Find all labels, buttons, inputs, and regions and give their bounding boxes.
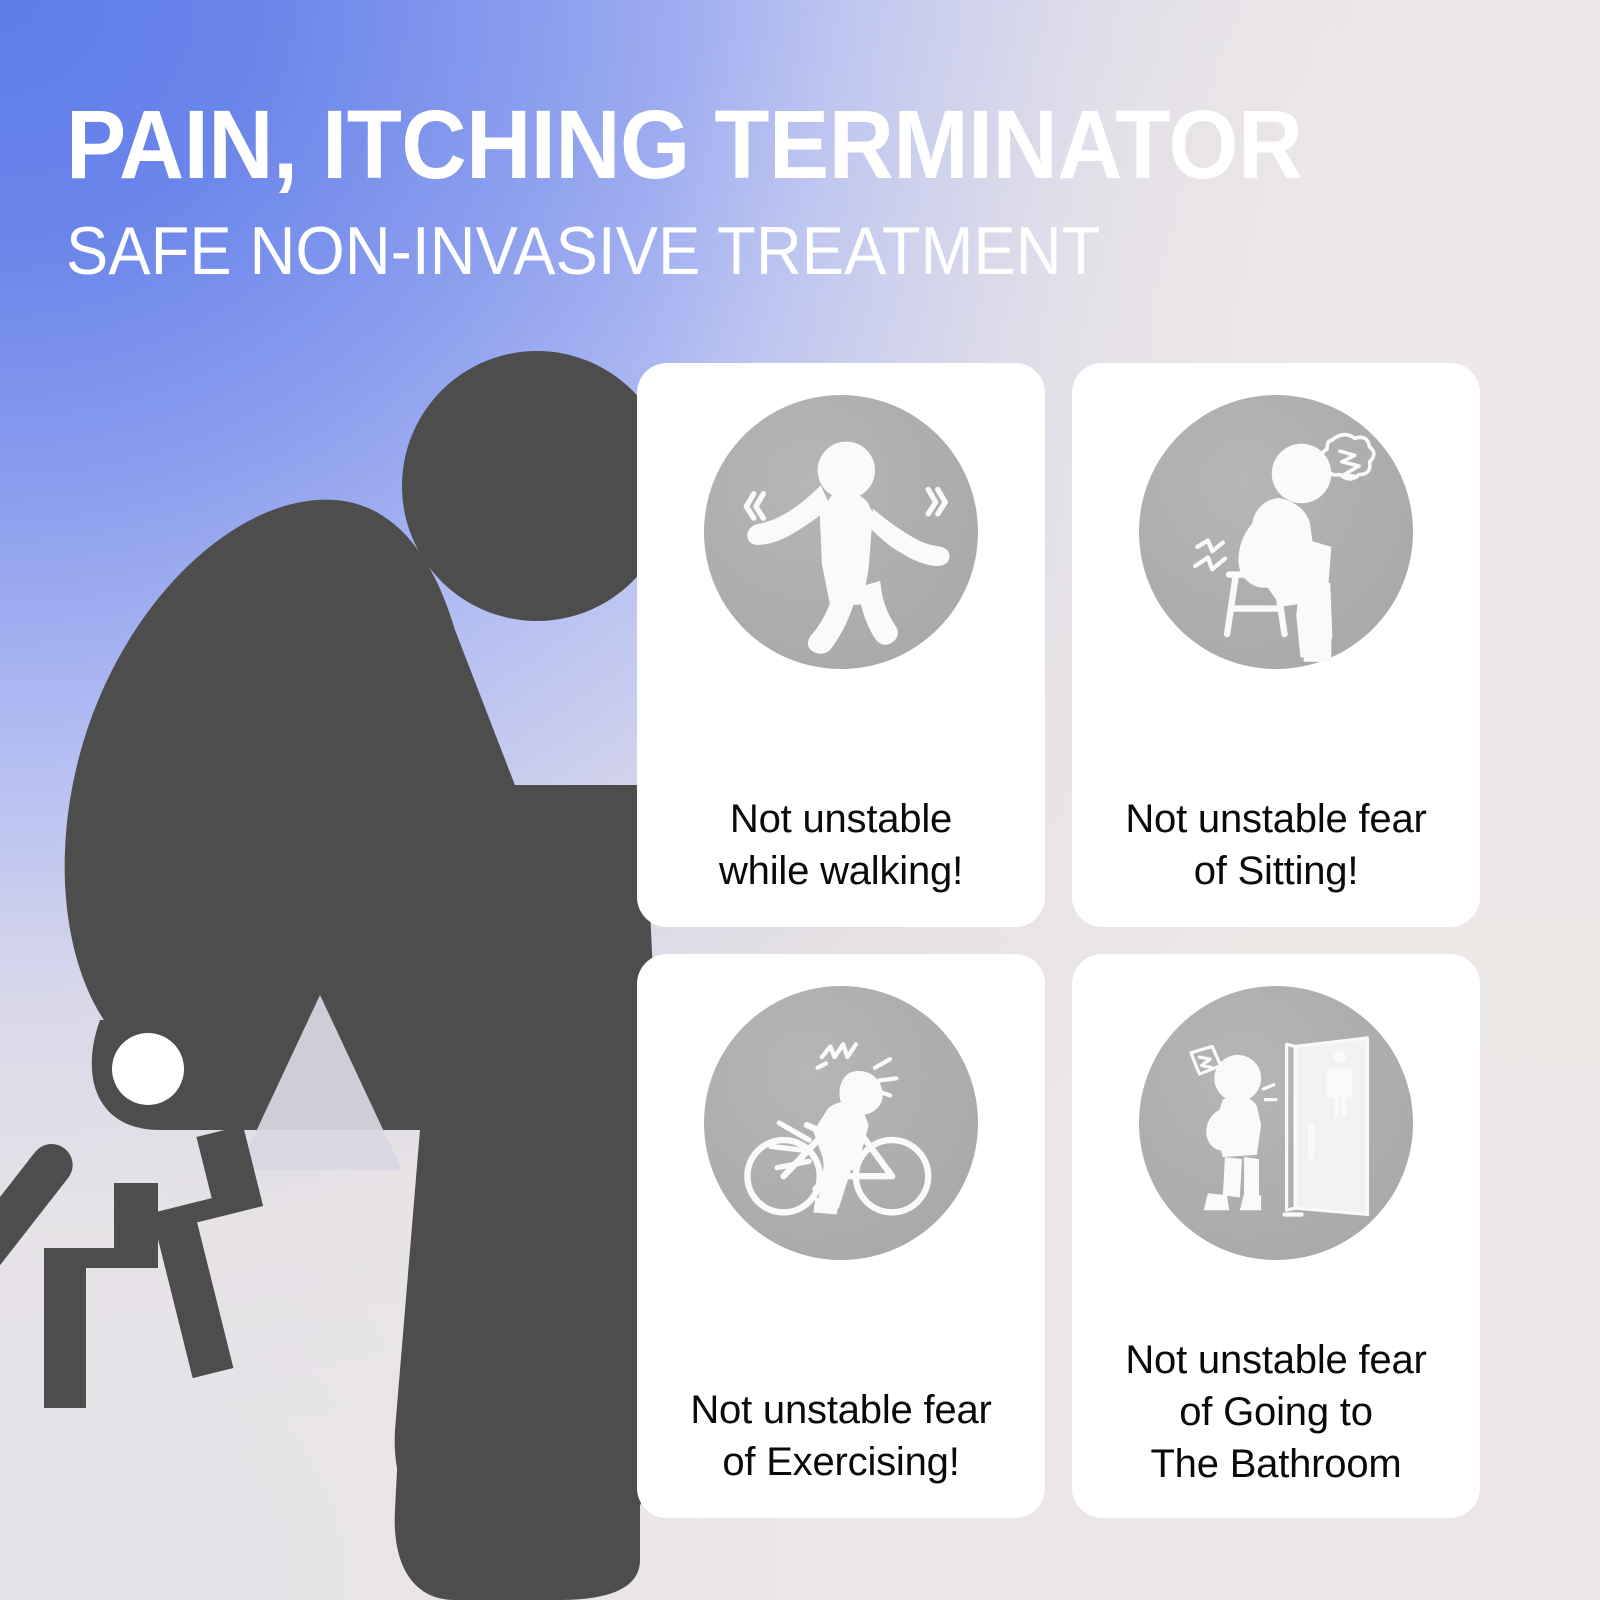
feature-card-caption: Not unstable fear of Sitting! [1125, 793, 1426, 897]
page-title: PAIN, ITCHING TERMINATOR [66, 96, 1303, 193]
pain-mark-bolt-left-icon [44, 1183, 158, 1408]
feature-card-caption: Not unstable while walking! [719, 793, 963, 897]
hero-pain-origin-dot [112, 1033, 184, 1105]
person-sitting-on-stool-in-pain-icon [1139, 395, 1413, 669]
feature-card-sitting[interactable]: Not unstable fear of Sitting! [1072, 363, 1480, 927]
hero-head-icon [402, 351, 672, 621]
feature-card-caption: Not unstable fear of Exercising! [690, 1384, 991, 1488]
person-at-restroom-door-icon [1139, 986, 1413, 1260]
feature-card-walking[interactable]: Not unstable while walking! [637, 363, 1045, 927]
feature-card-grid: Not unstable while walking! [637, 363, 1480, 1518]
feature-card-exercising[interactable]: Not unstable fear of Exercising! [637, 954, 1045, 1518]
hero-illustration [0, 330, 720, 1600]
restroom-door-icon [1285, 1038, 1368, 1215]
header: PAIN, ITCHING TERMINATOR SAFE NON-INVASI… [66, 96, 1396, 285]
page-subtitle: SAFE NON-INVASIVE TREATMENT [66, 217, 1303, 285]
feature-card-caption: Not unstable fear of Going to The Bathro… [1125, 1334, 1426, 1490]
walking-person-icon [704, 395, 978, 669]
person-cycling-in-pain-icon [704, 986, 978, 1260]
hero-lower-leg-icon [395, 1370, 640, 1600]
feature-card-bathroom[interactable]: Not unstable fear of Going to The Bathro… [1072, 954, 1480, 1518]
waiting-person-icon [1204, 1055, 1261, 1210]
